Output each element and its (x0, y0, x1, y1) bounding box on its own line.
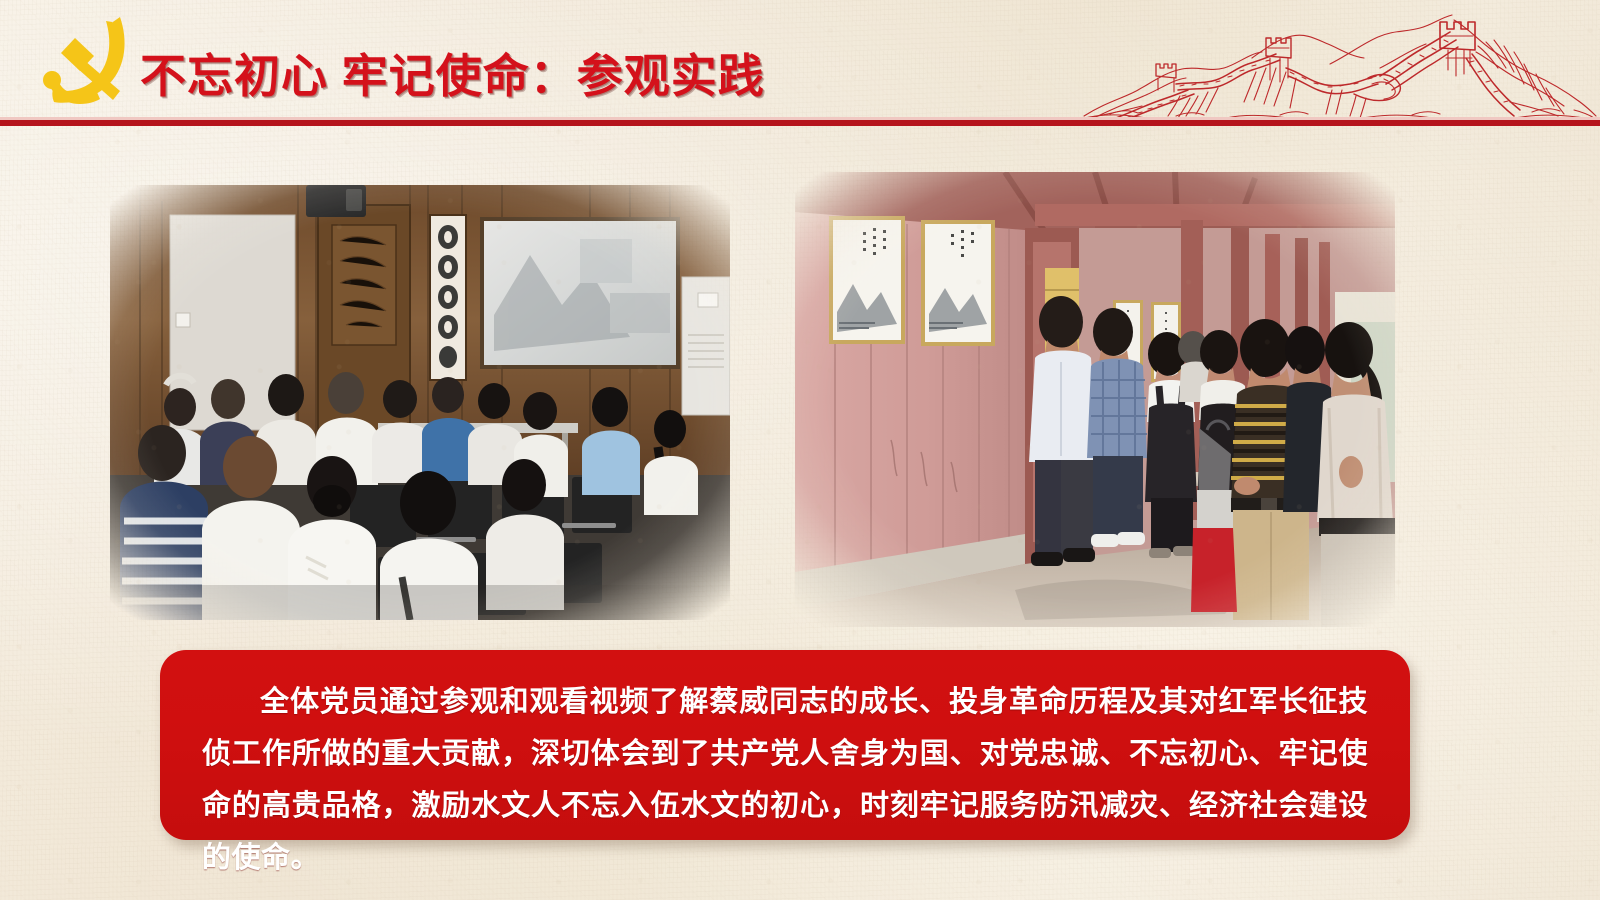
photo-corridor-visit (795, 172, 1395, 627)
great-wall-illustration-icon (1080, 6, 1600, 124)
slide-header: 不忘初心 牢记使命：参观实践 (0, 0, 1600, 128)
header-divider-red (0, 120, 1600, 126)
photo-lecture-room (110, 185, 730, 620)
party-hammer-sickle-emblem-icon (36, 14, 138, 114)
caption-panel: 全体党员通过参观和观看视频了解蔡威同志的成长、投身革命历程及其对红军长征技侦工作… (160, 650, 1410, 840)
page-title: 不忘初心 牢记使命：参观实践 (140, 40, 765, 106)
slide-canvas: 不忘初心 牢记使命：参观实践 (0, 0, 1600, 900)
caption-text: 全体党员通过参观和观看视频了解蔡威同志的成长、投身革命历程及其对红军长征技侦工作… (202, 676, 1368, 884)
photo-oval-mask (795, 172, 1395, 627)
photo-oval-mask (110, 185, 730, 620)
